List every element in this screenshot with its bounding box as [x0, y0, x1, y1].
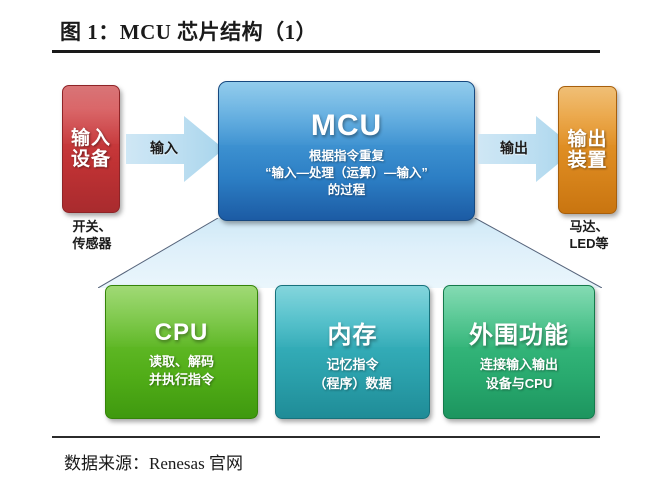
node-memory-title: 内存: [328, 315, 378, 350]
node-mcu-title: MCU: [311, 109, 382, 143]
node-cpu-description: 读取、解码 并执行指令: [149, 353, 214, 390]
funnel-connector: [98, 218, 602, 288]
source-divider: [52, 436, 600, 438]
node-input-device-label: 输入 设备: [71, 128, 111, 171]
arrow-output-label: 输出: [500, 138, 528, 158]
title-divider: [52, 50, 600, 53]
caption-input-device: 开关、 传感器: [56, 218, 128, 253]
node-cpu[interactable]: CPU 读取、解码 并执行指令: [105, 285, 258, 419]
node-peripheral[interactable]: 外围功能 连接输入输出 设备与CPU: [443, 285, 595, 419]
node-output-device-label: 输出 装置: [567, 129, 607, 172]
node-mcu-description: 根据指令重复 “输入—处理（运算）—输入” 的过程: [265, 148, 428, 200]
node-mcu[interactable]: MCU 根据指令重复 “输入—处理（运算）—输入” 的过程: [218, 81, 475, 221]
node-cpu-title: CPU: [155, 319, 209, 347]
arrow-input-label: 输入: [150, 138, 178, 158]
node-output-device[interactable]: 输出 装置: [558, 86, 617, 214]
diagram-canvas: 输入 设备 开关、 传感器 输入 MCU 根据指令重复 “输入—处理（运算）—: [0, 60, 653, 430]
node-memory[interactable]: 内存 记忆指令 （程序）数据: [275, 285, 430, 419]
node-input-device[interactable]: 输入 设备: [62, 85, 120, 213]
figure-source: 数据来源：Renesas 官网: [64, 449, 243, 474]
node-memory-description: 记忆指令 （程序）数据: [313, 356, 391, 393]
caption-output-device: 马达、 LED等: [552, 218, 626, 253]
figure-container: 图 1：MCU 芯片结构（1） 输入 设备 开关: [0, 0, 653, 499]
figure-title: 图 1：MCU 芯片结构（1）: [60, 16, 317, 46]
node-peripheral-title: 外围功能: [469, 315, 569, 350]
node-peripheral-description: 连接输入输出 设备与CPU: [480, 356, 558, 393]
